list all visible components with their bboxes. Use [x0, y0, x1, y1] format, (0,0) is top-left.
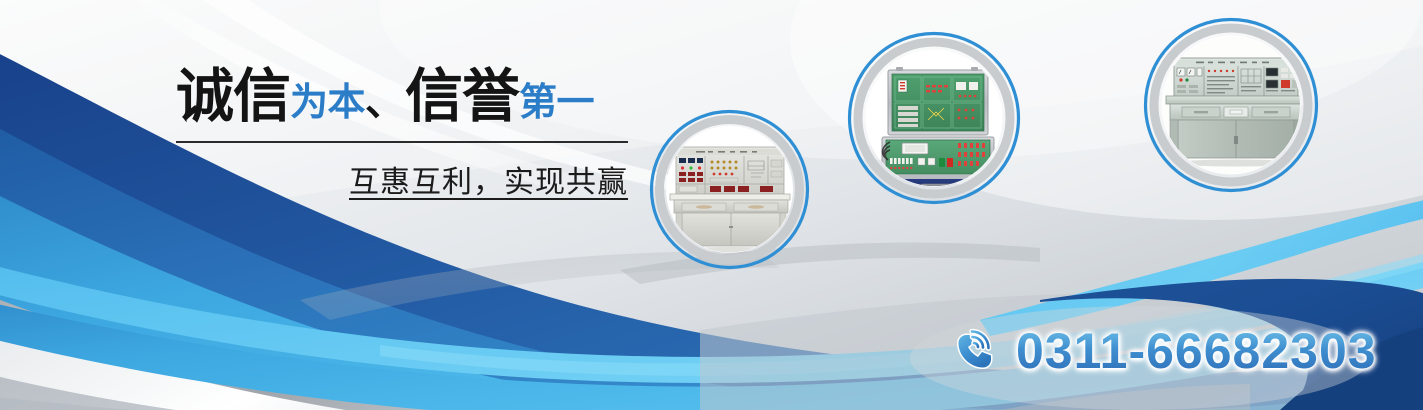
headline-separator: 、	[365, 82, 405, 122]
product-badge-trainer-case[interactable]	[846, 30, 1022, 206]
headline-block: 诚信 为本 、 信誉 第一 互惠互利，实现共赢	[176, 68, 628, 201]
workbench-photo	[648, 108, 811, 271]
contact-block[interactable]: 0311-66682303	[952, 326, 1377, 376]
phone-number[interactable]: 0311-66682303	[1016, 326, 1377, 376]
headline: 诚信 为本 、 信誉 第一	[176, 68, 628, 130]
headline-divider-rule	[176, 141, 628, 143]
product-badge-workbench[interactable]	[648, 108, 811, 271]
headline-part1-big: 诚信	[176, 68, 290, 126]
motor-bench-photo	[1142, 16, 1320, 194]
headline-part2-small: 第一	[519, 84, 594, 122]
trainer-case-photo	[846, 30, 1022, 206]
headline-part2-big: 信誉	[405, 68, 519, 126]
product-badge-motor-bench[interactable]	[1142, 16, 1320, 194]
subline: 互惠互利，实现共赢	[176, 157, 628, 201]
promotional-banner: 诚信 为本 、 信誉 第一 互惠互利，实现共赢	[0, 0, 1423, 410]
headline-part1-small: 为本	[290, 84, 365, 122]
phone-call-icon[interactable]	[952, 326, 1002, 376]
